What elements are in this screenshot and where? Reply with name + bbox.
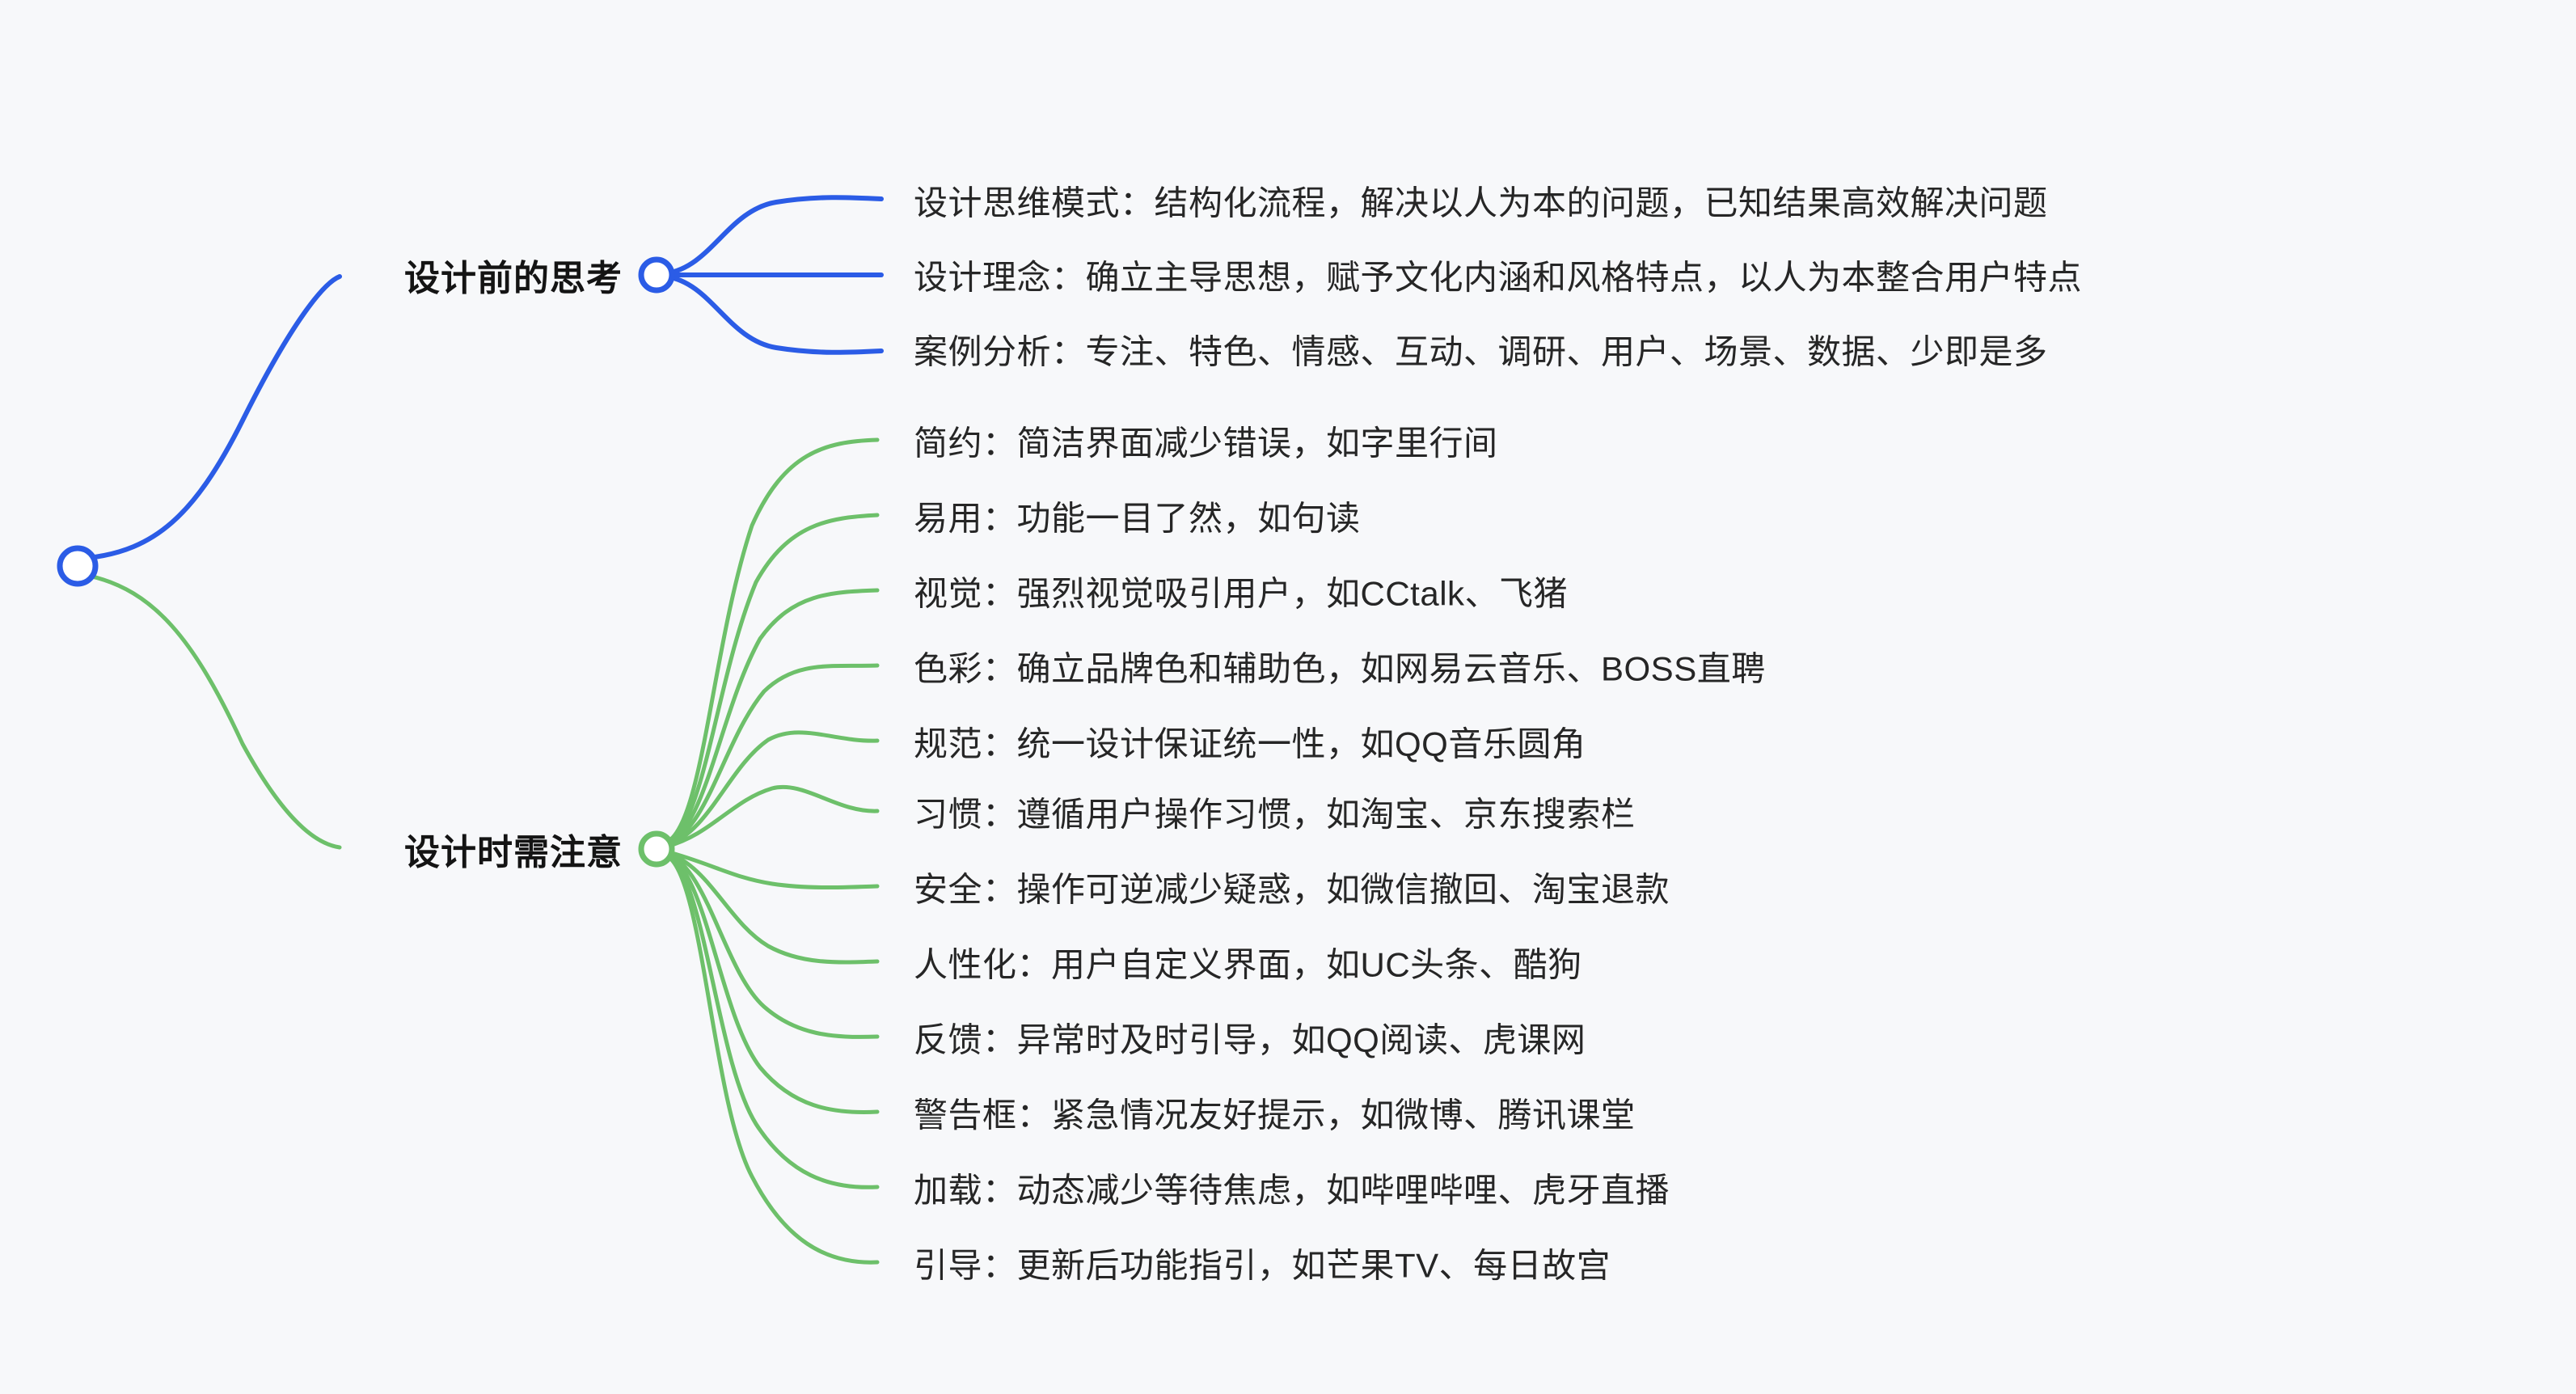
topic-label-design-considerations[interactable]: 设计时需注意 <box>404 823 623 875</box>
leaf-label-green-7[interactable]: 安全：操作可逆减少疑惑，如微信撤回、淘宝退款 <box>914 863 1670 912</box>
topic-label-pre-design-thinking[interactable]: 设计前的思考 <box>404 249 623 301</box>
leaf-label-blue-1[interactable]: 设计思维模式：结构化流程，解决以人为本的问题，已知结果高效解决问题 <box>914 176 2048 226</box>
leaf-label-green-4[interactable]: 色彩：确立品牌色和辅助色，如网易云音乐、BOSS直聘 <box>914 642 1766 691</box>
label-layer: 设计前的思考 设计时需注意 设计思维模式：结构化流程，解决以人为本的问题，已知结… <box>0 0 2576 1394</box>
leaf-label-blue-2[interactable]: 设计理念：确立主导思想，赋予文化内涵和风格特点，以人为本整合用户特点 <box>914 251 2082 300</box>
leaf-label-green-11[interactable]: 加载：动态减少等待焦虑，如哔哩哔哩、虎牙直播 <box>914 1164 1670 1213</box>
leaf-label-green-6[interactable]: 习惯：遵循用户操作习惯，如淘宝、京东搜索栏 <box>914 788 1636 837</box>
leaf-label-green-9[interactable]: 反馈：异常时及时引导，如QQ阅读、虎课网 <box>914 1013 1586 1062</box>
leaf-label-green-5[interactable]: 规范：统一设计保证统一性，如QQ音乐圆角 <box>914 717 1586 767</box>
leaf-label-green-10[interactable]: 警告框：紧急情况友好提示，如微博、腾讯课堂 <box>914 1088 1636 1138</box>
leaf-label-green-2[interactable]: 易用：功能一目了然，如句读 <box>914 492 1361 541</box>
leaf-label-green-8[interactable]: 人性化：用户自定义界面，如UC头条、酷狗 <box>914 938 1582 987</box>
leaf-label-green-3[interactable]: 视觉：强烈视觉吸引用户，如CCtalk、飞猪 <box>914 567 1568 616</box>
leaf-label-green-1[interactable]: 简约：简洁界面减少错误，如字里行间 <box>914 416 1498 466</box>
leaf-label-blue-3[interactable]: 案例分析：专注、特色、情感、互动、调研、用户、场景、数据、少即是多 <box>914 325 2048 374</box>
leaf-label-green-12[interactable]: 引导：更新后功能指引，如芒果TV、每日故宫 <box>914 1239 1611 1288</box>
